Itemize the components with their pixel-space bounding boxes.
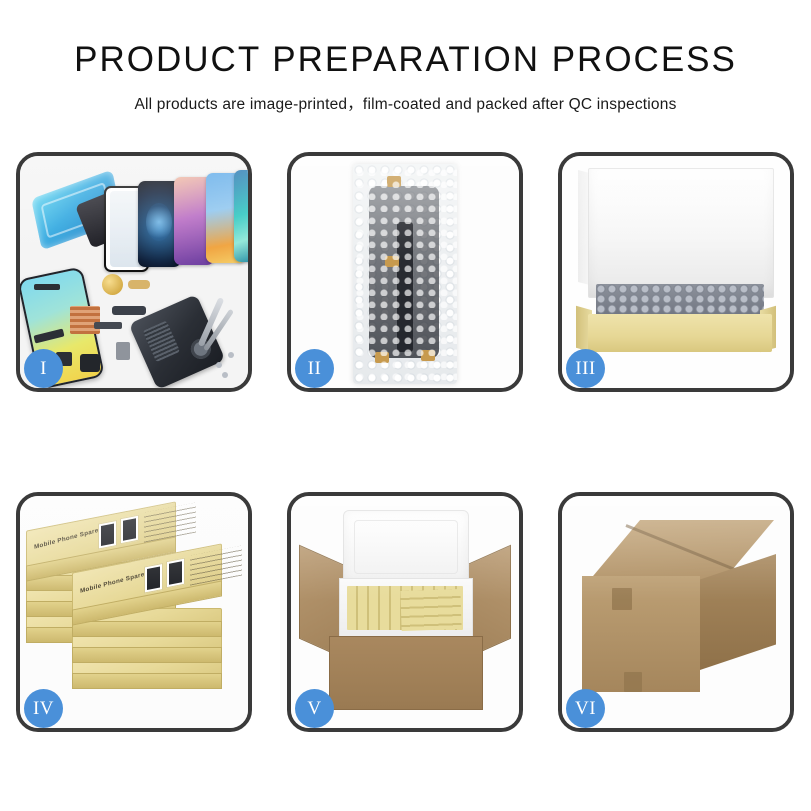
- screen-thumb: [144, 563, 163, 594]
- carton-front: [329, 636, 483, 710]
- step-badge-4: IV: [24, 689, 63, 728]
- coil-part-icon: [102, 274, 123, 295]
- screen-thumb: [120, 515, 139, 545]
- step-panel-3[interactable]: III: [558, 152, 794, 392]
- screw-icon: [216, 362, 222, 368]
- page-subtitle: All products are image-printed，film-coat…: [0, 92, 811, 114]
- screen-thumb: [166, 558, 185, 589]
- gold-box-stack: Mobile Phone Spare Parts Mob: [26, 510, 246, 720]
- step-panel-4[interactable]: Mobile Phone Spare Parts Mob: [16, 492, 252, 732]
- copper-pad-icon: [70, 306, 100, 334]
- part-speaker-icon: [80, 354, 100, 372]
- screw-icon: [228, 352, 234, 358]
- part-bracket-icon: [94, 322, 122, 329]
- process-steps-grid: I II III: [16, 152, 795, 732]
- gold-boxes-inside-secondary: [400, 589, 461, 631]
- part-ribbon-icon: [112, 306, 146, 315]
- bubble-wrap-contents: [596, 284, 764, 318]
- box-lid-open: [588, 168, 774, 298]
- bubble-wrap-bag: [353, 164, 457, 384]
- page-title: PRODUCT PREPARATION PROCESS: [0, 42, 811, 77]
- part-camera-icon: [116, 342, 130, 360]
- phone-fan-group: [98, 170, 248, 268]
- page-header: PRODUCT PREPARATION PROCESS All products…: [0, 0, 811, 114]
- tape-mark-icon: [612, 588, 632, 610]
- step-badge-2: II: [295, 349, 334, 388]
- gold-box-front: [588, 314, 772, 352]
- phone-teal-display-icon: [234, 170, 248, 262]
- step-badge-6: VI: [566, 689, 605, 728]
- part-strip-icon: [34, 284, 60, 290]
- part-gold-connector-icon: [128, 280, 150, 289]
- step-panel-2[interactable]: II: [287, 152, 523, 392]
- screen-thumb: [98, 520, 117, 550]
- step-badge-3: III: [566, 349, 605, 388]
- step-panel-6[interactable]: VI: [558, 492, 794, 732]
- screw-icon: [222, 372, 228, 378]
- foam-lid: [343, 510, 469, 584]
- step-badge-1: I: [24, 349, 63, 388]
- step-panel-1[interactable]: I: [16, 152, 252, 392]
- step-panel-5[interactable]: V: [287, 492, 523, 732]
- tape-mark-icon: [624, 672, 642, 692]
- step-badge-5: V: [295, 689, 334, 728]
- bubble-texture: [353, 164, 457, 384]
